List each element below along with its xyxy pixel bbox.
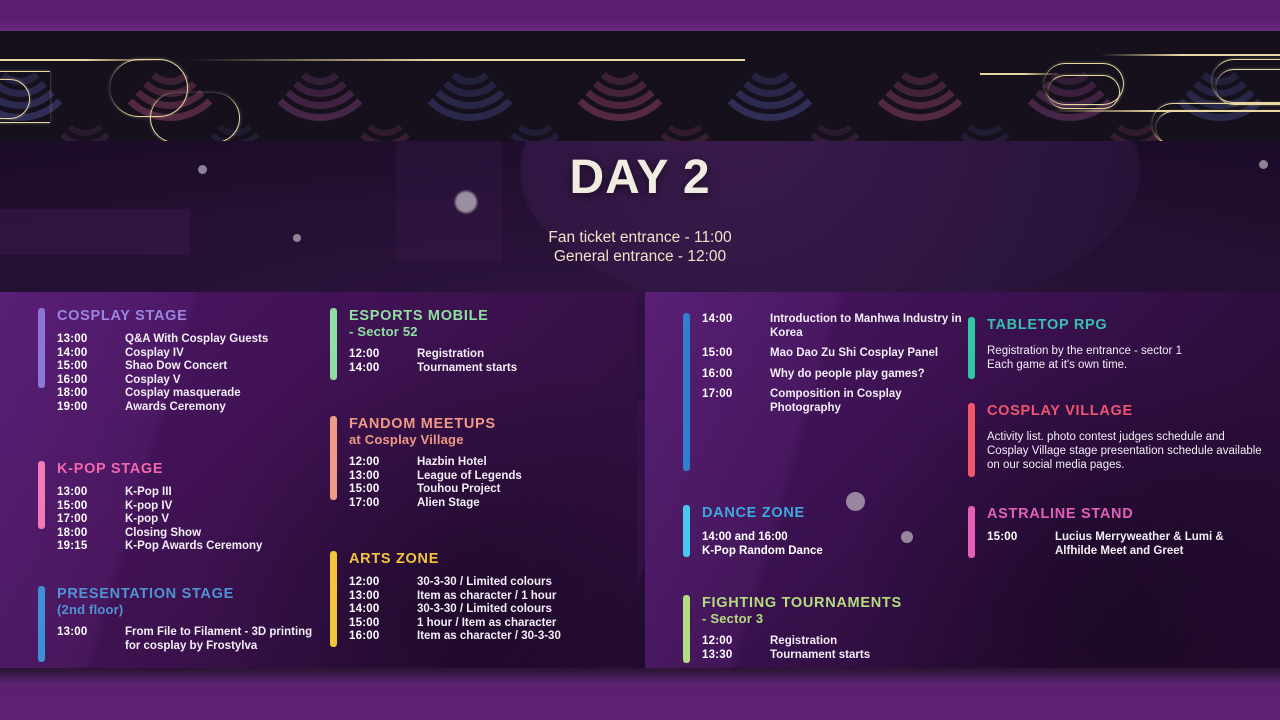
block-title-dance-zone: DANCE ZONE <box>702 505 973 521</box>
row-time: 15:00 <box>987 531 1055 558</box>
row-description: Q&A With Cosplay Guests <box>125 333 268 347</box>
block-subtitle-esports-mobile: - Sector 52 <box>349 324 630 339</box>
schedule-row: 15:00Mao Dao Zu Shi Cosplay Panel <box>702 347 973 361</box>
row-description: From File to Filament - 3D printing for … <box>125 626 328 653</box>
accent-bar-panels-talks <box>683 313 690 471</box>
row-time: 13:00 <box>349 590 417 604</box>
schedule-row: 13:00League of Legends <box>349 470 630 484</box>
schedule-block-esports-mobile: ESPORTS MOBILE- Sector 5212:00Registrati… <box>330 308 630 380</box>
schedule-row: 13:30Tournament starts <box>702 649 973 663</box>
entrance-line-fan: Fan ticket entrance - 11:00 <box>0 228 1280 247</box>
accent-bar-presentation-stage <box>38 586 45 662</box>
schedule-row: 15:00K-pop IV <box>57 500 328 514</box>
row-time: 15:00 <box>57 500 125 514</box>
row-time: 13:00 <box>57 626 125 653</box>
schedule-block-fandom-meetups: FANDOM MEETUPSat Cosplay Village12:00Haz… <box>330 416 630 510</box>
row-time: 19:15 <box>57 540 125 554</box>
entrance-times: Fan ticket entrance - 11:00 General entr… <box>0 228 1280 266</box>
row-time: 17:00 <box>349 497 417 511</box>
row-time: 13:00 <box>57 486 125 500</box>
row-time: 14:00 <box>349 603 417 617</box>
free-line: 14:00 and 16:00 <box>702 530 973 544</box>
schedule-row: 12:00Registration <box>349 348 630 362</box>
row-description: 30-3-30 / Limited colours <box>417 603 552 617</box>
accent-bar-dance-zone <box>683 505 690 557</box>
block-title-cosplay-village: COSPLAY VILLAGE <box>987 403 1268 419</box>
row-time: 14:00 <box>702 313 770 340</box>
schedule-row: 12:00Registration <box>702 635 973 649</box>
row-description: Lucius Merryweather & Lumi & Alfhilde Me… <box>1055 531 1268 558</box>
row-description: Tournament starts <box>417 362 517 376</box>
row-description: Touhou Project <box>417 483 500 497</box>
block-note-cosplay-village: Activity list. photo contest judges sche… <box>987 430 1268 472</box>
row-time: 12:00 <box>702 635 770 649</box>
row-description: Hazbin Hotel <box>417 456 487 470</box>
row-description: Awards Ceremony <box>125 401 226 415</box>
schedule-row: 14:00Cosplay IV <box>57 347 328 361</box>
schedule-row: 12:0030-3-30 / Limited colours <box>349 576 630 590</box>
row-time: 15:00 <box>349 617 417 631</box>
schedule-row: 18:00Cosplay masquerade <box>57 387 328 401</box>
schedule-block-presentation-stage: PRESENTATION STAGE(2nd floor)13:00From F… <box>38 586 328 662</box>
row-description: Cosplay V <box>125 374 181 388</box>
row-description: Registration <box>417 348 484 362</box>
accent-bar-astraline-stand <box>968 506 975 558</box>
free-line: K-Pop Random Dance <box>702 544 973 558</box>
schedule-row: 16:00Cosplay V <box>57 374 328 388</box>
row-description: 30-3-30 / Limited colours <box>417 576 552 590</box>
row-description: Composition in Cosplay Photography <box>770 388 973 415</box>
row-time: 13:30 <box>702 649 770 663</box>
row-time: 17:00 <box>57 513 125 527</box>
page-title: DAY 2 <box>0 150 1280 205</box>
schedule-row: 17:00Composition in Cosplay Photography <box>702 388 973 415</box>
accent-bar-fandom-meetups <box>330 416 337 500</box>
row-description: K-Pop III <box>125 486 172 500</box>
row-description: Cosplay IV <box>125 347 184 361</box>
row-description: Why do people play games? <box>770 368 925 382</box>
block-subtitle-presentation-stage: (2nd floor) <box>57 602 328 617</box>
row-description: Closing Show <box>125 527 201 541</box>
row-description: Tournament starts <box>770 649 870 663</box>
block-subtitle-fighting-tournaments: - Sector 3 <box>702 611 973 626</box>
row-time: 15:00 <box>349 483 417 497</box>
schedule-block-cosplay-stage: COSPLAY STAGE13:00Q&A With Cosplay Guest… <box>38 308 328 414</box>
schedule-row: 17:00Alien Stage <box>349 497 630 511</box>
row-time: 18:00 <box>57 527 125 541</box>
row-description: Shao Dow Concert <box>125 360 227 374</box>
block-title-kpop-stage: K-POP STAGE <box>57 461 328 477</box>
schedule-row: 15:00Lucius Merryweather & Lumi & Alfhil… <box>987 531 1268 558</box>
schedule-block-arts-zone: ARTS ZONE12:0030-3-30 / Limited colours1… <box>330 551 630 647</box>
row-time: 15:00 <box>57 360 125 374</box>
schedule-row: 13:00From File to Filament - 3D printing… <box>57 626 328 653</box>
row-time: 19:00 <box>57 401 125 415</box>
row-description: Registration <box>770 635 837 649</box>
row-time: 14:00 <box>349 362 417 376</box>
row-description: Alien Stage <box>417 497 480 511</box>
row-time: 16:00 <box>349 630 417 644</box>
accent-bar-tabletop-rpg <box>968 317 975 379</box>
accent-bar-cosplay-stage <box>38 308 45 388</box>
schedule-row: 19:15K-Pop Awards Ceremony <box>57 540 328 554</box>
schedule-row: 16:00Why do people play games? <box>702 368 973 382</box>
bottom-frame-bar <box>0 680 1280 720</box>
row-description: Cosplay masquerade <box>125 387 241 401</box>
row-time: 13:00 <box>349 470 417 484</box>
accent-bar-cosplay-village <box>968 403 975 477</box>
top-frame-bar <box>0 0 1280 31</box>
block-subtitle-fandom-meetups: at Cosplay Village <box>349 432 630 447</box>
row-description: Introduction to Manhwa Industry in Korea <box>770 313 973 340</box>
schedule-row: 19:00Awards Ceremony <box>57 401 328 415</box>
row-description: Mao Dao Zu Shi Cosplay Panel <box>770 347 938 361</box>
row-time: 13:00 <box>57 333 125 347</box>
schedule-row: 14:0030-3-30 / Limited colours <box>349 603 630 617</box>
block-title-fandom-meetups: FANDOM MEETUPS <box>349 416 630 432</box>
row-description: Item as character / 30-3-30 <box>417 630 561 644</box>
block-title-cosplay-stage: COSPLAY STAGE <box>57 308 328 324</box>
schedule-block-fighting-tournaments: FIGHTING TOURNAMENTS- Sector 312:00Regis… <box>683 595 973 663</box>
row-time: 15:00 <box>702 347 770 361</box>
schedule-row: 14:00Tournament starts <box>349 362 630 376</box>
schedule-row: 18:00Closing Show <box>57 527 328 541</box>
gold-swirl-pattern <box>0 31 1280 141</box>
accent-bar-kpop-stage <box>38 461 45 529</box>
block-title-esports-mobile: ESPORTS MOBILE <box>349 308 630 324</box>
block-title-arts-zone: ARTS ZONE <box>349 551 630 567</box>
block-title-fighting-tournaments: FIGHTING TOURNAMENTS <box>702 595 973 611</box>
entrance-line-general: General entrance - 12:00 <box>0 247 1280 266</box>
block-title-presentation-stage: PRESENTATION STAGE <box>57 586 328 602</box>
accent-bar-arts-zone <box>330 551 337 647</box>
row-description: K-pop IV <box>125 500 172 514</box>
row-time: 16:00 <box>57 374 125 388</box>
block-note-tabletop-rpg: Registration by the entrance - sector 1 … <box>987 344 1268 372</box>
row-time: 12:00 <box>349 348 417 362</box>
row-time: 18:00 <box>57 387 125 401</box>
schedule-row: 16:00Item as character / 30-3-30 <box>349 630 630 644</box>
schedule-block-astraline-stand: ASTRALINE STAND15:00Lucius Merryweather … <box>968 506 1268 558</box>
schedule-block-kpop-stage: K-POP STAGE13:00K-Pop III15:00K-pop IV17… <box>38 461 328 554</box>
accent-bar-fighting-tournaments <box>683 595 690 663</box>
row-description: 1 hour / Item as character <box>417 617 556 631</box>
row-time: 17:00 <box>702 388 770 415</box>
row-description: K-pop V <box>125 513 169 527</box>
row-description: League of Legends <box>417 470 522 484</box>
schedule-row: 15:001 hour / Item as character <box>349 617 630 631</box>
row-description: K-Pop Awards Ceremony <box>125 540 262 554</box>
schedule-block-panels-talks: 14:00Introduction to Manhwa Industry in … <box>683 313 973 471</box>
row-time: 14:00 <box>57 347 125 361</box>
block-title-astraline-stand: ASTRALINE STAND <box>987 506 1268 522</box>
block-title-tabletop-rpg: TABLETOP RPG <box>987 317 1268 333</box>
row-time: 12:00 <box>349 456 417 470</box>
schedule-row: 13:00Item as character / 1 hour <box>349 590 630 604</box>
schedule-row: 13:00K-Pop III <box>57 486 328 500</box>
decorative-banner <box>0 31 1280 141</box>
row-time: 12:00 <box>349 576 417 590</box>
schedule-row: 15:00Shao Dow Concert <box>57 360 328 374</box>
schedule-row: 13:00Q&A With Cosplay Guests <box>57 333 328 347</box>
schedule-block-dance-zone: DANCE ZONE14:00 and 16:00K-Pop Random Da… <box>683 505 973 558</box>
row-description: Item as character / 1 hour <box>417 590 556 604</box>
schedule-row: 14:00Introduction to Manhwa Industry in … <box>702 313 973 340</box>
accent-bar-esports-mobile <box>330 308 337 380</box>
schedule-block-tabletop-rpg: TABLETOP RPGRegistration by the entrance… <box>968 317 1268 379</box>
schedule-block-cosplay-village: COSPLAY VILLAGEActivity list. photo cont… <box>968 403 1268 477</box>
row-time: 16:00 <box>702 368 770 382</box>
schedule-row: 17:00K-pop V <box>57 513 328 527</box>
schedule-row: 12:00Hazbin Hotel <box>349 456 630 470</box>
schedule-row: 15:00Touhou Project <box>349 483 630 497</box>
